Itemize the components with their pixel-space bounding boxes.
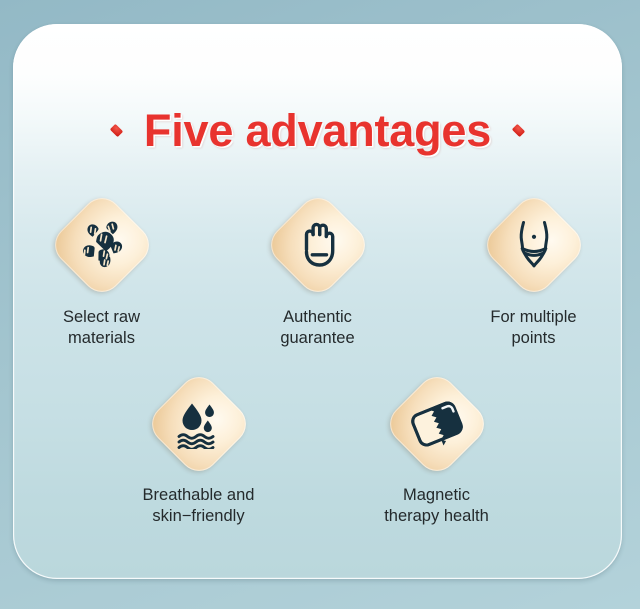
feature-item-magnetic-therapy-health: Magnetic therapy health xyxy=(357,379,517,527)
feature-badge xyxy=(381,369,491,479)
magnet-patch-icon xyxy=(398,385,476,463)
feature-badge xyxy=(262,190,372,300)
feature-row-top: Select raw materials xyxy=(13,200,622,349)
title-row: Five advantages xyxy=(13,99,622,161)
waist-torso-icon xyxy=(495,206,573,284)
hand-palm-icon xyxy=(279,206,357,284)
feature-row-bottom: Breathable and skin−friendly xyxy=(13,379,622,527)
diamond-bullet-left-icon xyxy=(110,123,123,136)
feature-badge xyxy=(478,190,588,300)
water-drop-waves-icon xyxy=(160,385,238,463)
feature-item-select-raw-materials: Select raw materials xyxy=(33,200,171,349)
page-title: Five advantages xyxy=(144,108,491,153)
diamond-bullet-right-icon xyxy=(512,123,525,136)
ginger-root-icon xyxy=(63,206,141,284)
poster-stage: Five advantages xyxy=(0,0,640,609)
feature-label: Magnetic therapy health xyxy=(384,485,489,527)
feature-label: Breathable and skin−friendly xyxy=(143,485,255,527)
content-card: Five advantages xyxy=(13,24,622,579)
feature-item-authentic-guarantee: Authentic guarantee xyxy=(249,200,387,349)
feature-label: Select raw materials xyxy=(63,307,140,349)
feature-item-breathable-skin-friendly: Breathable and skin−friendly xyxy=(119,379,279,527)
feature-badge xyxy=(46,190,156,300)
feature-item-for-multiple-points: For multiple points xyxy=(465,200,603,349)
feature-label: For multiple points xyxy=(490,307,576,349)
feature-label: Authentic guarantee xyxy=(280,307,354,349)
feature-badge xyxy=(143,369,253,479)
